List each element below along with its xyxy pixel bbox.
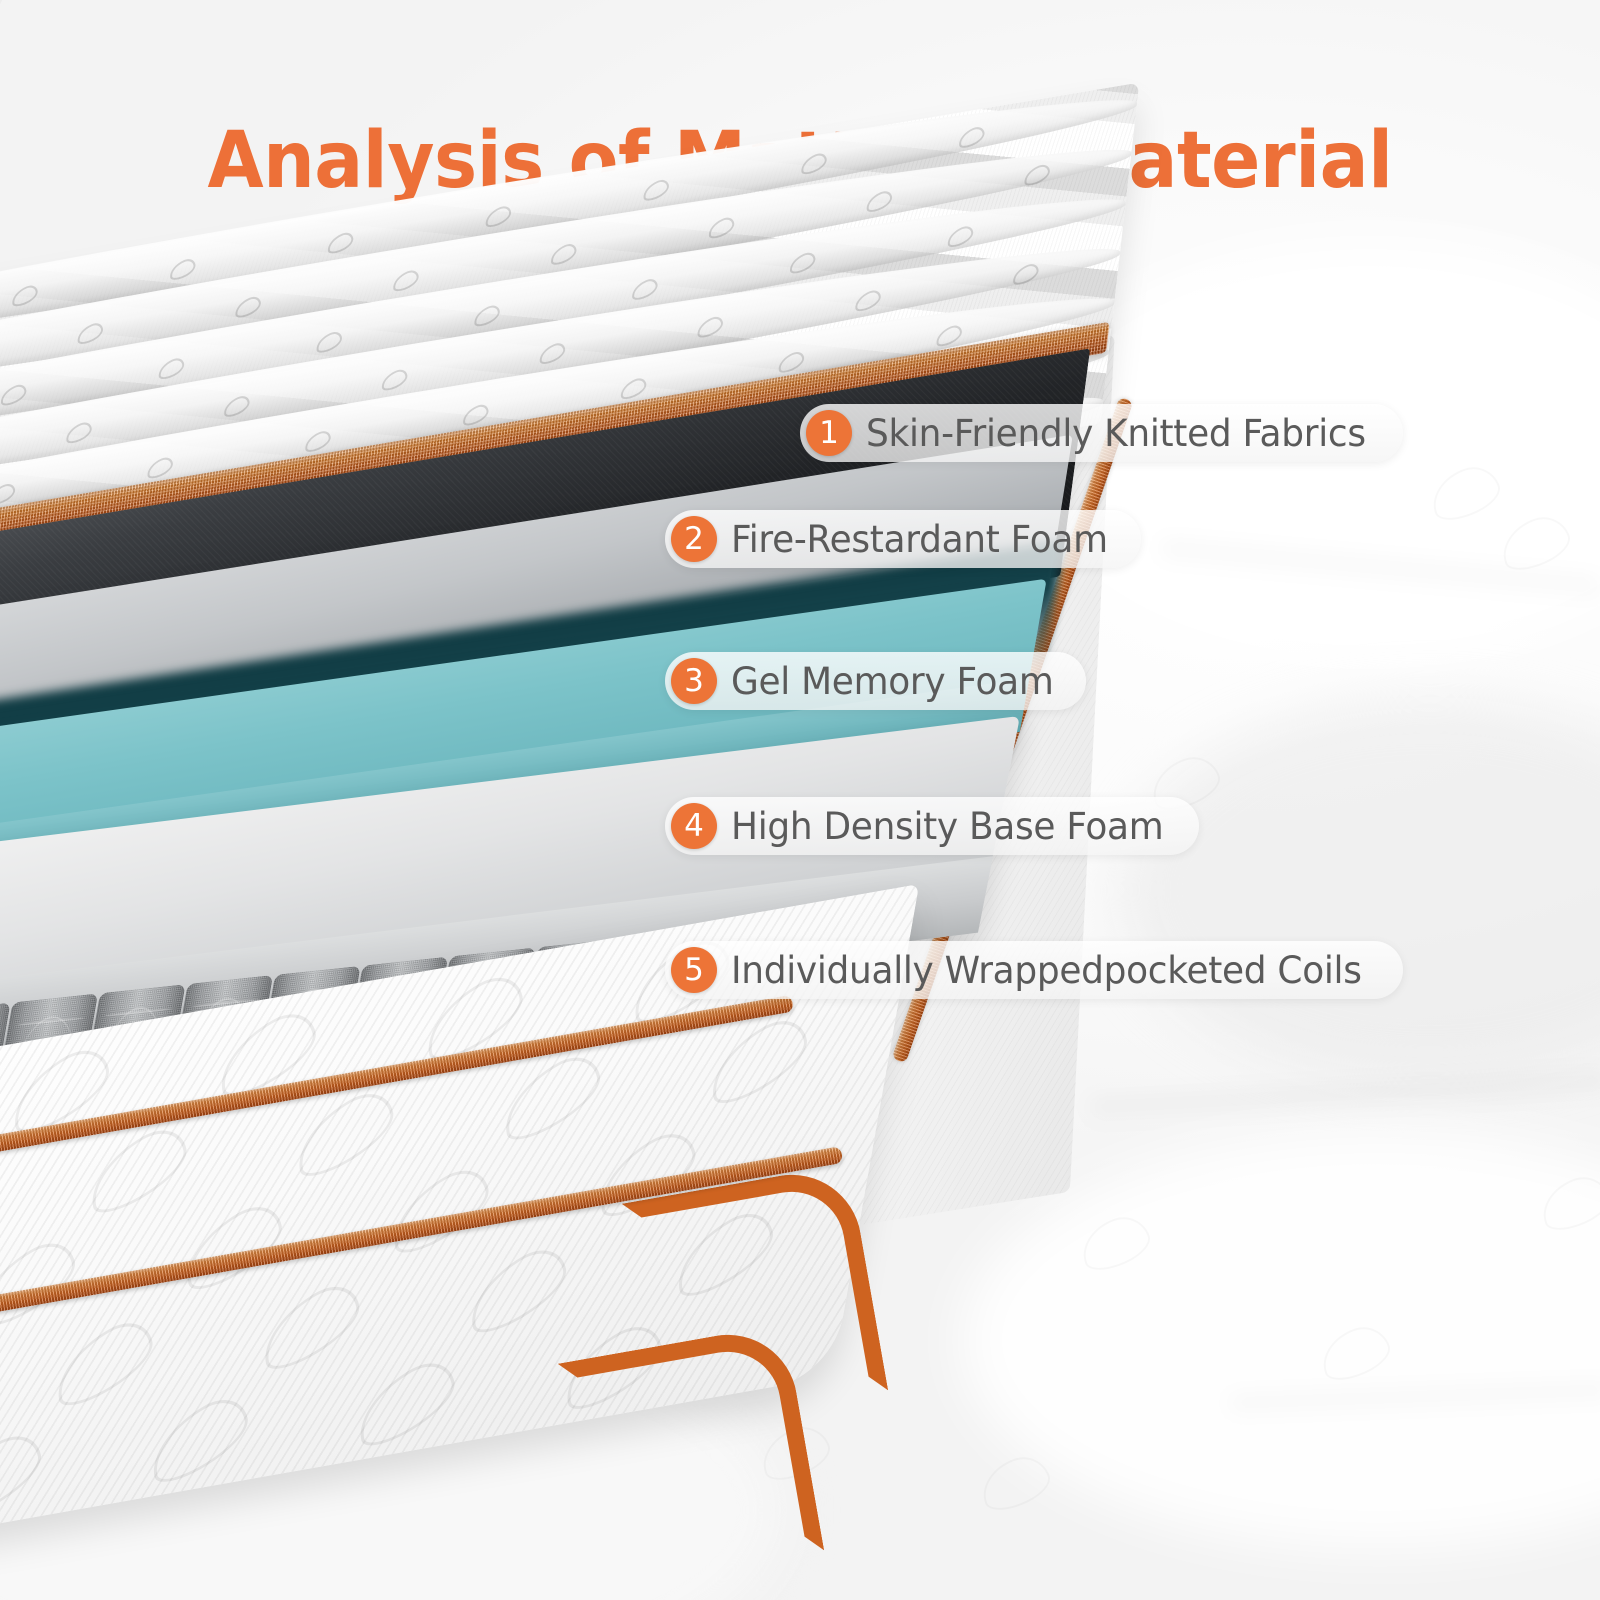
callout-2-fire-restardant-foam[interactable]: 2 Fire-Restardant Foam (665, 510, 1141, 568)
mattress-cutaway-illustration (0, 330, 1200, 1410)
coil-spring-line (17, 1017, 86, 1026)
callout-label-5: Individually Wrappedpocketed Coils (731, 949, 1362, 992)
callout-number-badge-5: 5 (671, 947, 717, 993)
infographic-stage: Analysis of Mattress Material (0, 0, 1600, 1600)
callout-number-badge-1: 1 (806, 410, 852, 456)
quilt-emboss-motif (51, 1309, 157, 1417)
callout-5-individually-wrappedpocketed-coils[interactable]: 5 Individually Wrappedpocketed Coils (665, 941, 1403, 999)
callout-4-high-density-base-foam[interactable]: 4 High Density Base Foam (665, 797, 1199, 855)
callout-label-2: Fire-Restardant Foam (731, 518, 1108, 561)
callout-label-4: High Density Base Foam (731, 805, 1163, 848)
bottom-piping-corner-outer (558, 1324, 824, 1590)
quilt-emboss-motif (465, 1236, 571, 1344)
callout-3-gel-memory-foam[interactable]: 3 Gel Memory Foam (665, 652, 1086, 710)
callout-number-badge-4: 4 (671, 803, 717, 849)
quilt-emboss-motif (258, 1272, 364, 1380)
quilt-emboss-motif (0, 1422, 46, 1530)
coil-spring-line (104, 1008, 173, 1017)
quilt-emboss-motif (146, 1386, 252, 1494)
quilt-emboss-motif (353, 1349, 459, 1457)
callout-number-badge-2: 2 (671, 516, 717, 562)
callout-label-3: Gel Memory Foam (731, 660, 1054, 703)
callout-1-skin-friendly-knitted-fabrics[interactable]: 1 Skin-Friendly Knitted Fabrics (800, 404, 1403, 462)
callout-number-badge-3: 3 (671, 658, 717, 704)
callout-label-1: Skin-Friendly Knitted Fabrics (866, 412, 1366, 455)
